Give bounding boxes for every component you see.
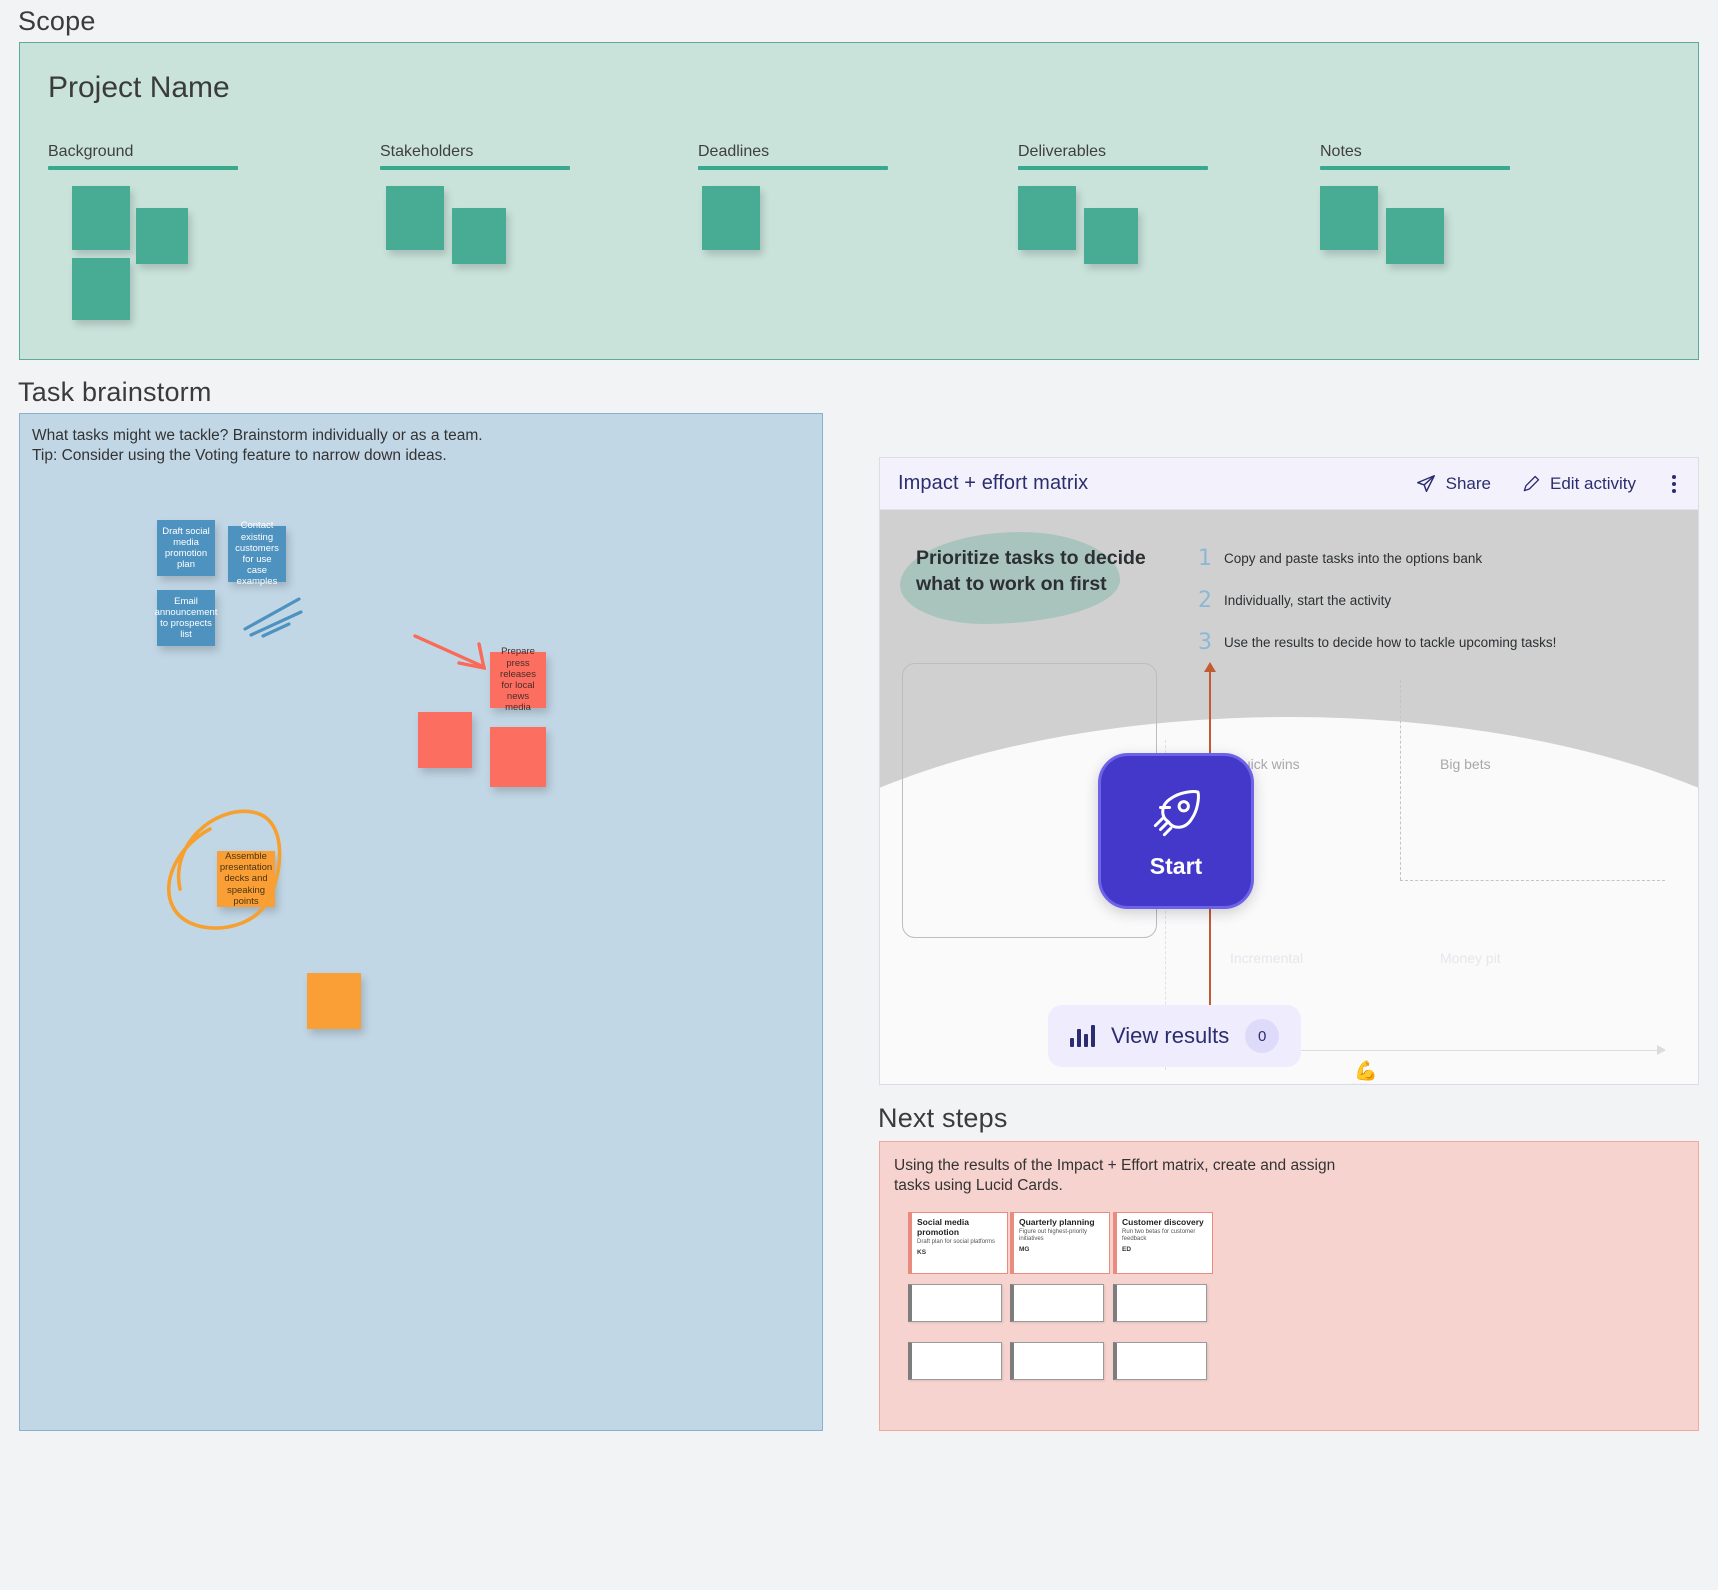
lucid-card-assignee-initials: ED <box>1122 1246 1207 1253</box>
red-arrow-icon <box>415 636 484 668</box>
matrix-steps-list: 1 Copy and paste tasks into the options … <box>1198 546 1556 672</box>
matrix-headline: Prioritize tasks to decide what to work … <box>916 546 1166 597</box>
edit-activity-label: Edit activity <box>1550 474 1636 494</box>
sticky-note-blank[interactable] <box>490 727 546 787</box>
scope-notes-group <box>698 186 888 336</box>
share-button[interactable]: Share <box>1415 473 1491 495</box>
effort-axis-label: 💪 Effort <box>1350 1062 1382 1085</box>
scope-column-deadlines: Deadlines <box>698 143 888 336</box>
sticky-note-email-announcement[interactable]: Email announcement to prospects list <box>157 590 215 646</box>
step-text: Use the results to decide how to tackle … <box>1224 635 1556 650</box>
lucid-card-quarterly-planning[interactable]: Quarterly planning Figure out highest-pr… <box>1010 1212 1110 1274</box>
matrix-grid-divider <box>1400 880 1665 881</box>
lucid-card-assignee-initials: MG <box>1019 1246 1104 1253</box>
lucid-card-title: Customer discovery <box>1122 1217 1207 1227</box>
lucid-card-assignee-initials: KS <box>917 1249 1002 1256</box>
sticky-note-presentation-decks[interactable]: Assemble presentation decks and speaking… <box>217 851 275 907</box>
lucid-card-title: Quarterly planning <box>1019 1217 1104 1227</box>
start-activity-button[interactable]: Start <box>1098 753 1254 909</box>
share-label: Share <box>1446 474 1491 494</box>
start-label: Start <box>1150 853 1202 880</box>
scope-column-rule <box>1320 166 1510 170</box>
next-steps-section-title: Next steps <box>878 1103 1008 1134</box>
view-results-label: View results <box>1111 1023 1229 1049</box>
scope-column-stakeholders: Stakeholders <box>380 143 570 336</box>
scope-column-label: Deliverables <box>1018 143 1208 166</box>
sticky-note[interactable] <box>1084 208 1138 264</box>
brainstorm-prompt-line1: What tasks might we tackle? Brainstorm i… <box>32 426 483 446</box>
view-results-button[interactable]: View results 0 <box>1048 1005 1301 1067</box>
lucid-card-customer-discovery[interactable]: Customer discovery Run two betas for cus… <box>1113 1212 1213 1274</box>
next-steps-board: Using the results of the Impact + Effort… <box>879 1141 1699 1431</box>
matrix-title: Impact + effort matrix <box>898 472 1385 495</box>
step-text: Individually, start the activity <box>1224 593 1391 608</box>
sticky-note[interactable] <box>1386 208 1444 264</box>
edit-activity-button[interactable]: Edit activity <box>1521 474 1636 494</box>
step-number-2-icon: 2 <box>1198 588 1224 613</box>
lucid-card-empty[interactable] <box>1113 1342 1207 1380</box>
scope-notes-group <box>380 186 570 336</box>
scope-notes-group <box>1320 186 1510 336</box>
sticky-note-blank[interactable] <box>418 712 472 768</box>
matrix-step: 1 Copy and paste tasks into the options … <box>1198 546 1556 571</box>
scope-notes-group <box>48 186 238 336</box>
scope-column-notes: Notes <box>1320 143 1510 336</box>
sticky-note-blank[interactable] <box>307 973 361 1029</box>
matrix-step: 3 Use the results to decide how to tackl… <box>1198 630 1556 655</box>
brainstorm-board: What tasks might we tackle? Brainstorm i… <box>19 413 823 1431</box>
sticky-note-press-releases[interactable]: Prepare press releases for local news me… <box>490 652 546 708</box>
lucid-card-description: Run two betas for customer feedback <box>1122 1229 1207 1243</box>
sticky-note[interactable] <box>452 208 506 264</box>
sticky-note[interactable] <box>386 186 444 250</box>
brainstorm-section-title: Task brainstorm <box>18 377 212 408</box>
sticky-note-contact-customers[interactable]: Contact existing customers for use case … <box>228 526 286 582</box>
more-options-kebab-icon[interactable] <box>1666 471 1682 497</box>
lucid-card-description: Figure out highest-priority initiatives <box>1019 1229 1104 1243</box>
sticky-note[interactable] <box>136 208 188 264</box>
scope-column-label: Background <box>48 143 238 166</box>
scope-column-background: Background <box>48 143 238 336</box>
rocket-icon <box>1145 783 1207 845</box>
brainstorm-prompt-line2: Tip: Consider using the Voting feature t… <box>32 446 483 466</box>
pencil-icon <box>1521 474 1541 494</box>
scope-section-title: Scope <box>18 6 96 37</box>
project-name[interactable]: Project Name <box>48 71 230 105</box>
effort-axis-label-text: Effort <box>1350 1081 1382 1085</box>
step-number-1-icon: 1 <box>1198 546 1224 571</box>
scope-board: Project Name Background Stakeholders Dea… <box>19 42 1699 360</box>
scope-notes-group <box>1018 186 1208 336</box>
matrix-headline-text: Prioritize tasks to decide what to work … <box>916 547 1146 595</box>
matrix-grid-divider <box>1400 680 1401 880</box>
scope-column-rule <box>48 166 238 170</box>
lucid-card-title: Social media promotion <box>917 1217 1002 1237</box>
step-number-3-icon: 3 <box>1198 630 1224 655</box>
scope-column-label: Stakeholders <box>380 143 570 166</box>
scope-column-label: Deadlines <box>698 143 888 166</box>
scope-column-rule <box>380 166 570 170</box>
scope-column-rule <box>1018 166 1208 170</box>
bicep-icon: 💪 <box>1350 1062 1382 1081</box>
matrix-canvas: Prioritize tasks to decide what to work … <box>880 510 1698 1085</box>
lucid-card-empty[interactable] <box>1010 1284 1104 1322</box>
lucid-card-description: Draft plan for social platforms <box>917 1239 1002 1246</box>
lucid-card-social-media-promotion[interactable]: Social media promotion Draft plan for so… <box>908 1212 1008 1274</box>
lucid-card-empty[interactable] <box>908 1284 1002 1322</box>
ink-annotations-layer <box>20 414 824 1432</box>
sticky-note-draft-social-media[interactable]: Draft social media promotion plan <box>157 520 215 576</box>
quadrant-label-money-pit: Money pit <box>1440 950 1501 966</box>
sticky-note[interactable] <box>1320 186 1378 250</box>
view-results-count-badge: 0 <box>1245 1019 1279 1053</box>
next-steps-description-line1: Using the results of the Impact + Effort… <box>894 1156 1335 1176</box>
share-paper-plane-icon <box>1415 473 1437 495</box>
next-steps-description: Using the results of the Impact + Effort… <box>894 1156 1335 1197</box>
brainstorm-prompt: What tasks might we tackle? Brainstorm i… <box>32 426 483 466</box>
scope-column-rule <box>698 166 888 170</box>
lucid-card-empty[interactable] <box>1113 1284 1207 1322</box>
scope-column-label: Notes <box>1320 143 1510 166</box>
bar-chart-icon <box>1070 1025 1095 1047</box>
matrix-step: 2 Individually, start the activity <box>1198 588 1556 613</box>
step-text: Copy and paste tasks into the options ba… <box>1224 551 1482 566</box>
lucid-card-empty[interactable] <box>908 1342 1002 1380</box>
sticky-note[interactable] <box>72 258 130 320</box>
sticky-note[interactable] <box>72 186 130 250</box>
blue-slash-marks-icon <box>245 599 301 636</box>
next-steps-description-line2: tasks using Lucid Cards. <box>894 1176 1335 1196</box>
quadrant-label-incremental: Incremental <box>1230 950 1303 966</box>
lucid-card-empty[interactable] <box>1010 1342 1104 1380</box>
sticky-note[interactable] <box>702 186 760 250</box>
sticky-note[interactable] <box>1018 186 1076 250</box>
matrix-header: Impact + effort matrix Share Edit activi… <box>880 458 1698 510</box>
quadrant-label-big-bets: Big bets <box>1440 756 1491 772</box>
scope-column-deliverables: Deliverables <box>1018 143 1208 336</box>
impact-effort-matrix-panel: Impact + effort matrix Share Edit activi… <box>879 457 1699 1085</box>
